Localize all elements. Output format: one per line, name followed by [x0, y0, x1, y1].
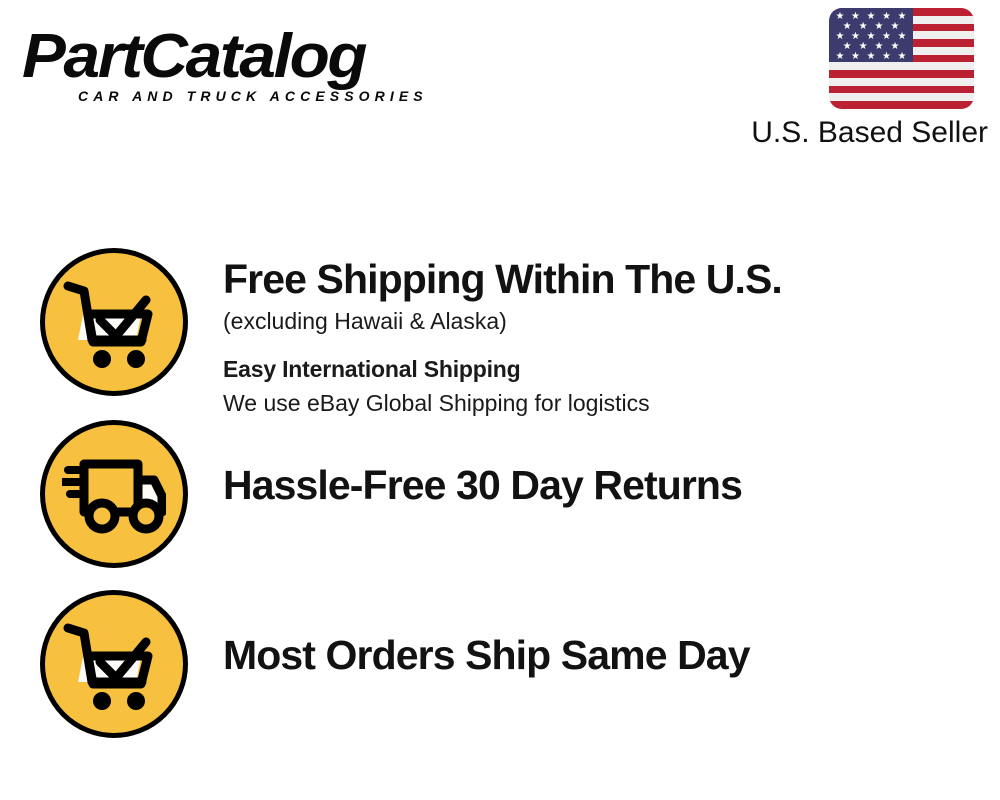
benefit-text: Hassle-Free 30 Day Returns [223, 420, 742, 510]
benefit-row: Free Shipping Within The U.S. (excluding… [40, 248, 980, 420]
flag-star-row: ★★★★★ [829, 32, 913, 42]
flag-stripe [829, 86, 974, 94]
benefit-text: Free Shipping Within The U.S. (excluding… [223, 248, 782, 420]
banner-header: PartCatalog CAR AND TRUCK ACCESSORIES [0, 0, 1000, 170]
benefit-text: Most Orders Ship Same Day [223, 590, 750, 680]
promo-banner: PartCatalog CAR AND TRUCK ACCESSORIES [0, 0, 1000, 800]
delivery-truck-icon [40, 420, 188, 568]
shopping-cart-check-icon [40, 590, 188, 738]
brand-logo: PartCatalog CAR AND TRUCK ACCESSORIES [22, 24, 492, 104]
benefit-row: Most Orders Ship Same Day [40, 590, 980, 738]
flag-star-row: ★★★★★ [829, 52, 913, 62]
benefit-headline: Hassle-Free 30 Day Returns [223, 460, 742, 510]
us-flag-icon: ★★★★★ ★★★★ ★★★★★ ★★★★ ★★★★★ [829, 8, 974, 109]
benefit-headline: Most Orders Ship Same Day [223, 630, 750, 680]
flag-stripe [829, 70, 974, 78]
flag-stripe [829, 62, 974, 70]
shopping-cart-check-icon [40, 248, 188, 396]
benefit-sub-plain: We use eBay Global Shipping for logistic… [223, 386, 782, 420]
benefit-headline: Free Shipping Within The U.S. [223, 254, 782, 304]
logo-wordmark: PartCatalog [22, 24, 520, 90]
flag-stripe [829, 78, 974, 86]
us-based-seller-label: U.S. Based Seller [698, 116, 988, 150]
flag-star-row: ★★★★★ [829, 12, 913, 22]
benefit-sub-bold: Easy International Shipping [223, 352, 782, 386]
benefit-subnote: (excluding Hawaii & Alaska) [223, 304, 782, 338]
us-based-seller-block: ★★★★★ ★★★★ ★★★★★ ★★★★ ★★★★★ U.S. Based S… [698, 8, 988, 150]
flag-stripe [829, 93, 974, 101]
flag-stripe [829, 101, 974, 109]
benefit-row: Hassle-Free 30 Day Returns [40, 420, 980, 568]
flag-canton: ★★★★★ ★★★★ ★★★★★ ★★★★ ★★★★★ [829, 8, 913, 62]
